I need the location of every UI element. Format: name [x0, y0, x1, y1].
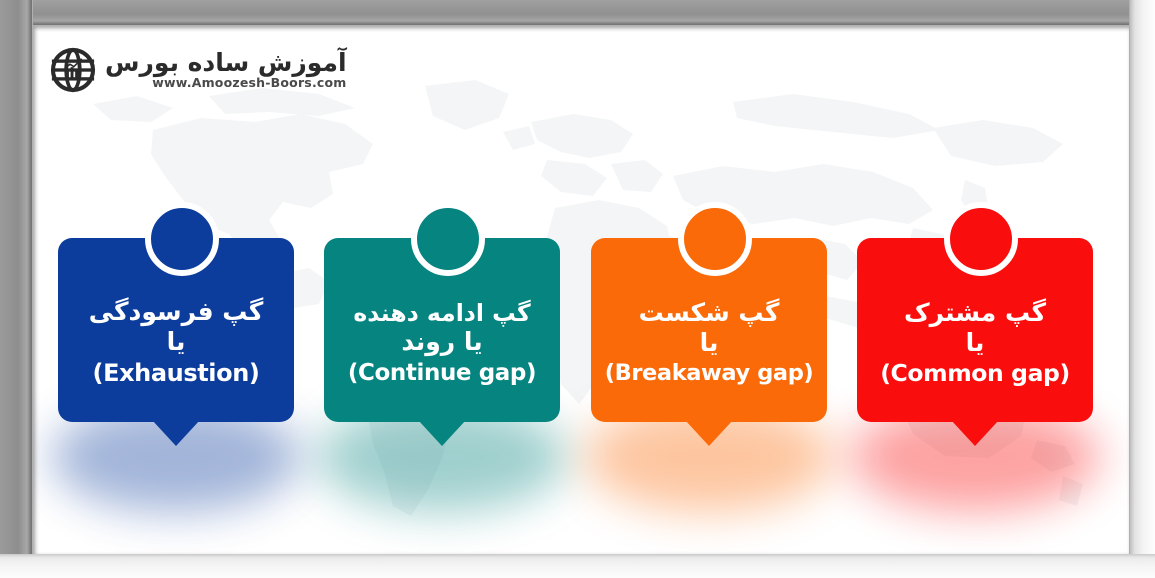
gap-card-continue[interactable]: گپ ادامه دهنده یا روند (Continue gap) [324, 202, 560, 432]
frame-edge-right [1129, 0, 1155, 578]
gap-card-breakaway[interactable]: گپ شکست یا (Breakaway gap) [591, 202, 827, 432]
gap-type-card-row: گپ فرسودگی یا (Exhaustion) گپ ادامه دهند… [33, 26, 1129, 554]
card-pointer [152, 420, 200, 446]
card-connector-fa: یا [966, 328, 985, 358]
circle-badge-icon [944, 202, 1018, 276]
circle-badge-icon [145, 202, 219, 276]
frame-edge-bottom [0, 554, 1155, 578]
card-connector-fa: یا [167, 327, 186, 357]
card-connector-fa: یا [700, 328, 719, 358]
gap-card-exhaustion[interactable]: گپ فرسودگی یا (Exhaustion) [58, 202, 294, 432]
circle-badge-icon [678, 202, 752, 276]
circle-badge-icon [411, 202, 485, 276]
card-title-fa: گپ فرسودگی [89, 298, 264, 326]
card-title-en: (Breakaway gap) [605, 361, 814, 387]
card-connector-fa: یا روند [401, 327, 482, 357]
frame-edge-top [0, 0, 1155, 26]
card-title-en: (Exhaustion) [93, 360, 260, 388]
card-pointer [951, 420, 999, 446]
card-title-fa: گپ ادامه دهنده [353, 300, 530, 326]
card-title-en: (Continue gap) [348, 360, 536, 386]
card-pointer [685, 420, 733, 446]
card-pointer [418, 420, 466, 446]
frame-edge-left [0, 0, 33, 578]
gap-card-common[interactable]: گپ مشترک یا (Common gap) [857, 202, 1093, 432]
card-title-fa: گپ مشترک [904, 299, 1046, 327]
infographic-stage: آموزش ساده بورس www.Amoozesh-Boors.com گ… [0, 0, 1155, 578]
card-title-en: (Common gap) [880, 360, 1070, 387]
card-title-fa: گپ شکست [639, 299, 780, 327]
content-canvas: آموزش ساده بورس www.Amoozesh-Boors.com گ… [33, 26, 1129, 554]
